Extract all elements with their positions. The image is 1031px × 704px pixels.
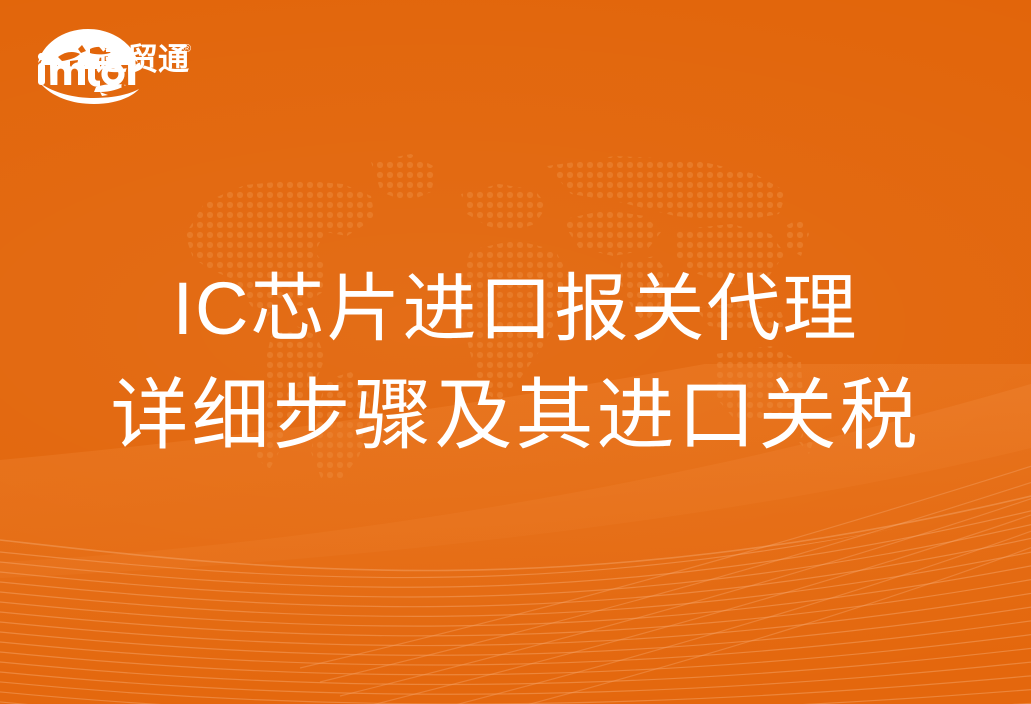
registered-trademark-icon: ® bbox=[183, 44, 191, 55]
banner-background bbox=[0, 0, 1031, 704]
promo-banner: 进贸通 ® IC芯片进口报关代理 详细步骤及其进口关税 bbox=[0, 0, 1031, 704]
logo-chinese-name: 进贸通 bbox=[96, 44, 189, 75]
airplane-swoosh-icon bbox=[38, 81, 140, 105]
